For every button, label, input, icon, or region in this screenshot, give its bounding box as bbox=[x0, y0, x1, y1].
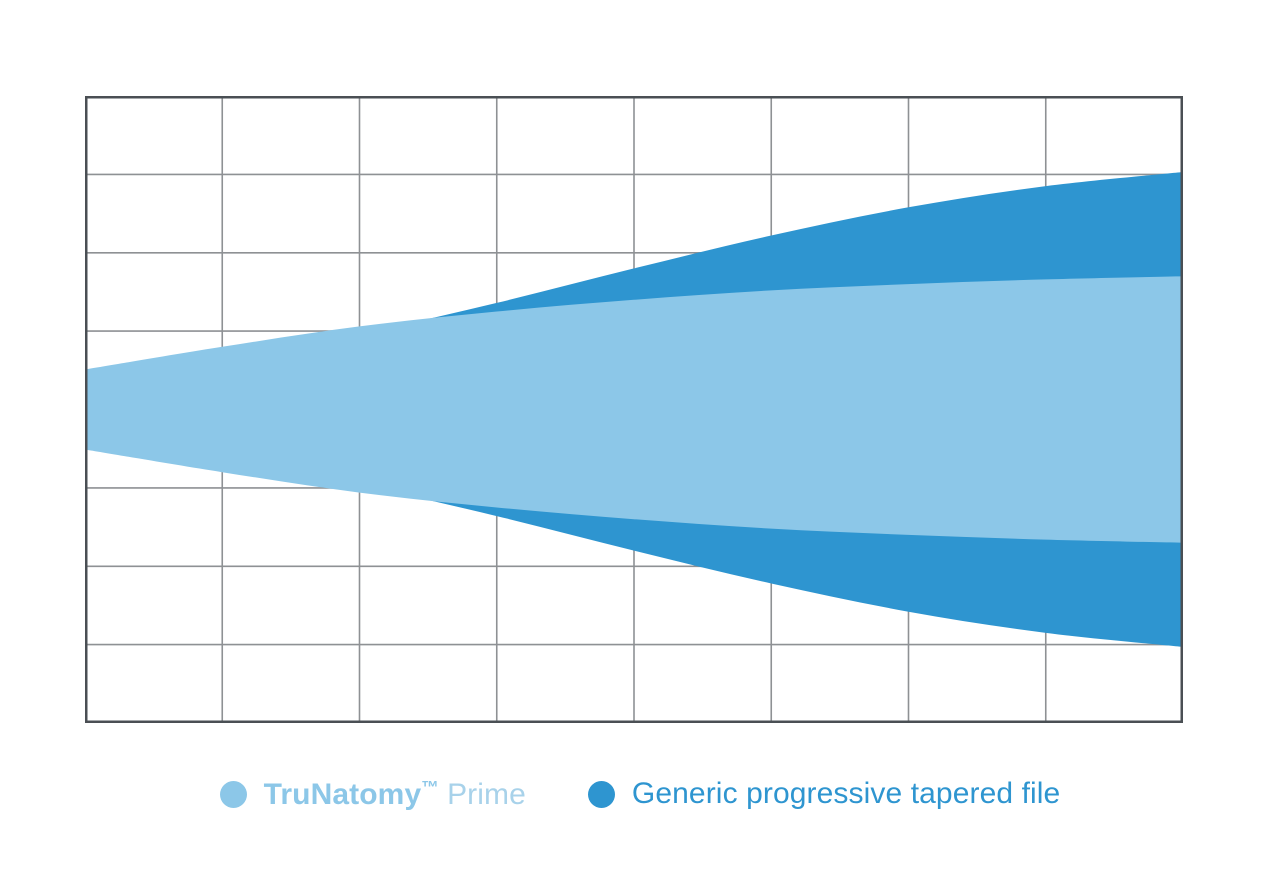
legend-item-trunatomy-prime[interactable]: TruNatomy™ Prime bbox=[220, 779, 526, 810]
legend-label-brand: TruNatomy bbox=[264, 777, 422, 810]
legend-item-generic-progressive-tapered-file[interactable]: Generic progressive tapered file bbox=[588, 779, 1060, 809]
chart-canvas bbox=[85, 96, 1183, 723]
chart-legend: TruNatomy™ Prime Generic progressive tap… bbox=[0, 762, 1280, 826]
legend-label-trunatomy-prime: TruNatomy™ Prime bbox=[264, 779, 526, 810]
trademark-icon: ™ bbox=[421, 777, 438, 797]
legend-label-variant: Prime bbox=[439, 777, 526, 810]
legend-label-generic-file: Generic progressive tapered file bbox=[632, 779, 1060, 809]
legend-swatch-circle-icon bbox=[588, 781, 615, 808]
plot-area bbox=[85, 96, 1183, 723]
taper-comparison-figure: TruNatomy™ Prime Generic progressive tap… bbox=[0, 0, 1280, 895]
legend-swatch-circle-icon bbox=[220, 781, 247, 808]
